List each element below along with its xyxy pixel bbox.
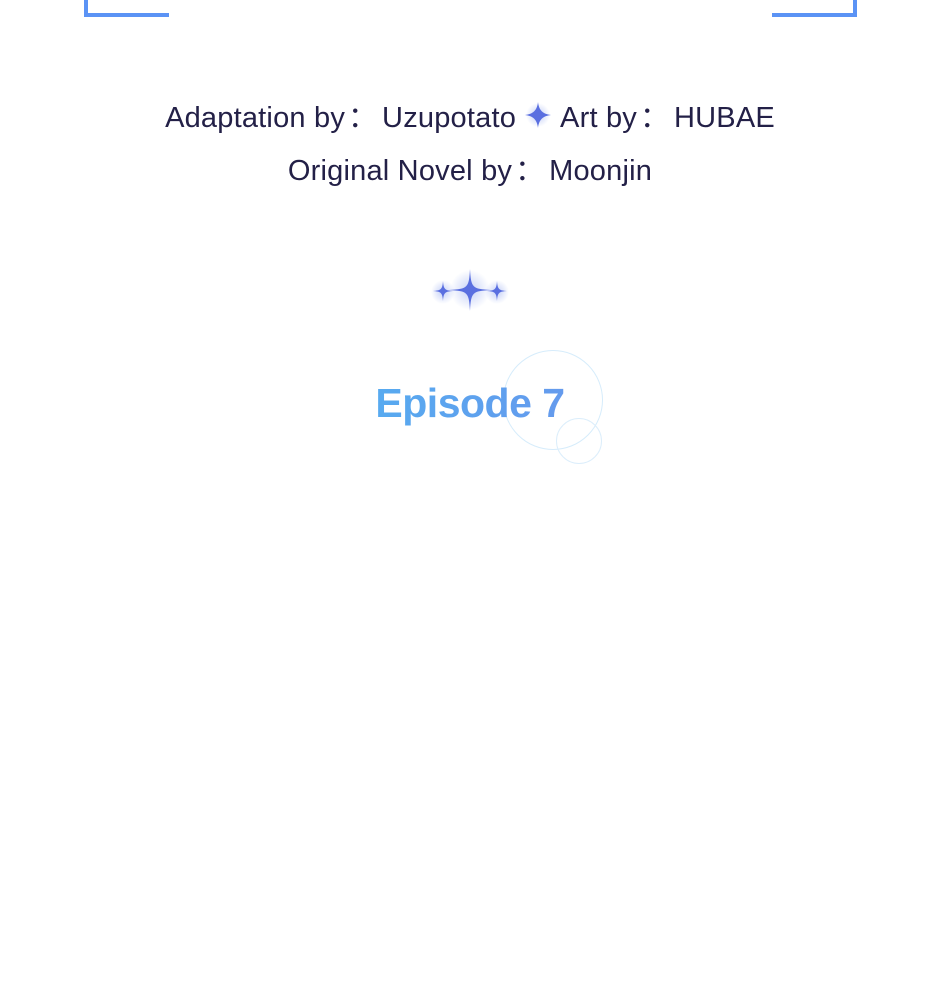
adaptation-role-label: Adaptation by <box>165 102 345 134</box>
art-credit-value: HUBAE <box>674 102 775 134</box>
corner-bracket-left-icon <box>84 0 169 17</box>
sparkle-cluster-icon <box>0 262 940 318</box>
art-separator: ： <box>637 102 674 134</box>
original-novel-role-label: Original Novel by <box>288 155 512 187</box>
original-novel-credit-value: Moonjin <box>549 155 652 187</box>
corner-bracket-right-icon <box>772 0 857 17</box>
adaptation-credit-value: Uzupotato <box>382 102 516 134</box>
sparkle-icon <box>523 95 553 125</box>
art-role-label: Art by <box>560 102 637 134</box>
credits-block: Adaptation by：Uzupotato Art by：HUBAE Ori… <box>0 92 940 198</box>
episode-title: Episode 7 <box>0 380 940 427</box>
original-novel-separator: ： <box>512 155 549 187</box>
credit-line-original-novel: Original Novel by：Moonjin <box>0 145 940 198</box>
comic-episode-title-page: Adaptation by：Uzupotato Art by：HUBAE Ori… <box>0 0 940 1000</box>
episode-title-block: Episode 7 <box>0 330 940 490</box>
adaptation-separator: ： <box>345 102 382 134</box>
credit-line-adaptation-art: Adaptation by：Uzupotato Art by：HUBAE <box>0 92 940 145</box>
